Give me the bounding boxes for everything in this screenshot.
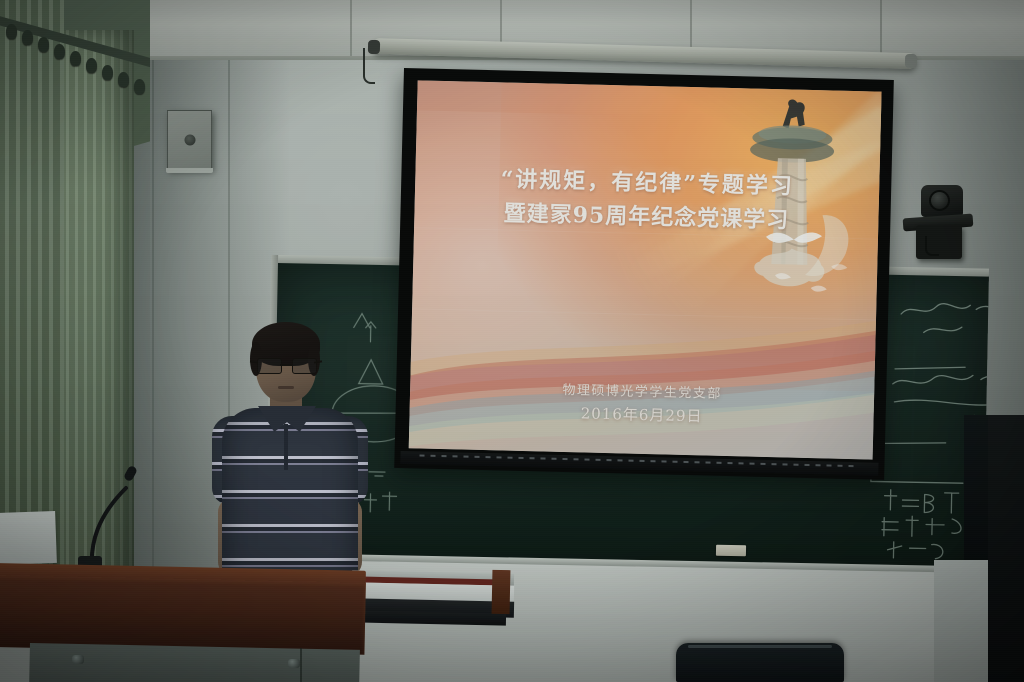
shirt-placket (284, 424, 288, 470)
camera-cable (925, 236, 939, 256)
roller-cable (363, 48, 375, 84)
camera-bracket (916, 225, 962, 259)
projection-screen: “讲规矩，有纪律”专题学习 暨建冡95周年纪念党课学习 物理硕博光学学生党支部 … (394, 68, 894, 480)
paper-stack (0, 511, 57, 565)
right-white-panel (934, 560, 992, 682)
camera-lens-icon (929, 190, 950, 211)
right-cabinet (988, 415, 1024, 682)
ribbon-wave-graphic (409, 278, 882, 460)
eyeglasses-icon (256, 358, 316, 373)
chair-back (676, 643, 844, 682)
mouth (278, 386, 294, 389)
podium-knob (288, 659, 300, 668)
slide-title: “讲规矩，有纪律”专题学习 暨建冡95周年纪念党课学习 (414, 160, 880, 240)
speaker-cone-icon (184, 135, 195, 146)
chalkboard-eraser (716, 545, 746, 557)
curtain-hooks (0, 0, 150, 200)
classroom-photo: “讲规矩，有纪律”专题学习 暨建冡95周年纪念党课学习 物理硕博光学学生党支部 … (0, 0, 1024, 682)
speaker-box (167, 110, 212, 170)
presenter (204, 320, 374, 582)
podium-knob (72, 655, 84, 664)
teacher-desk-end-panel (492, 570, 511, 614)
striped-polo-shirt (222, 408, 358, 583)
